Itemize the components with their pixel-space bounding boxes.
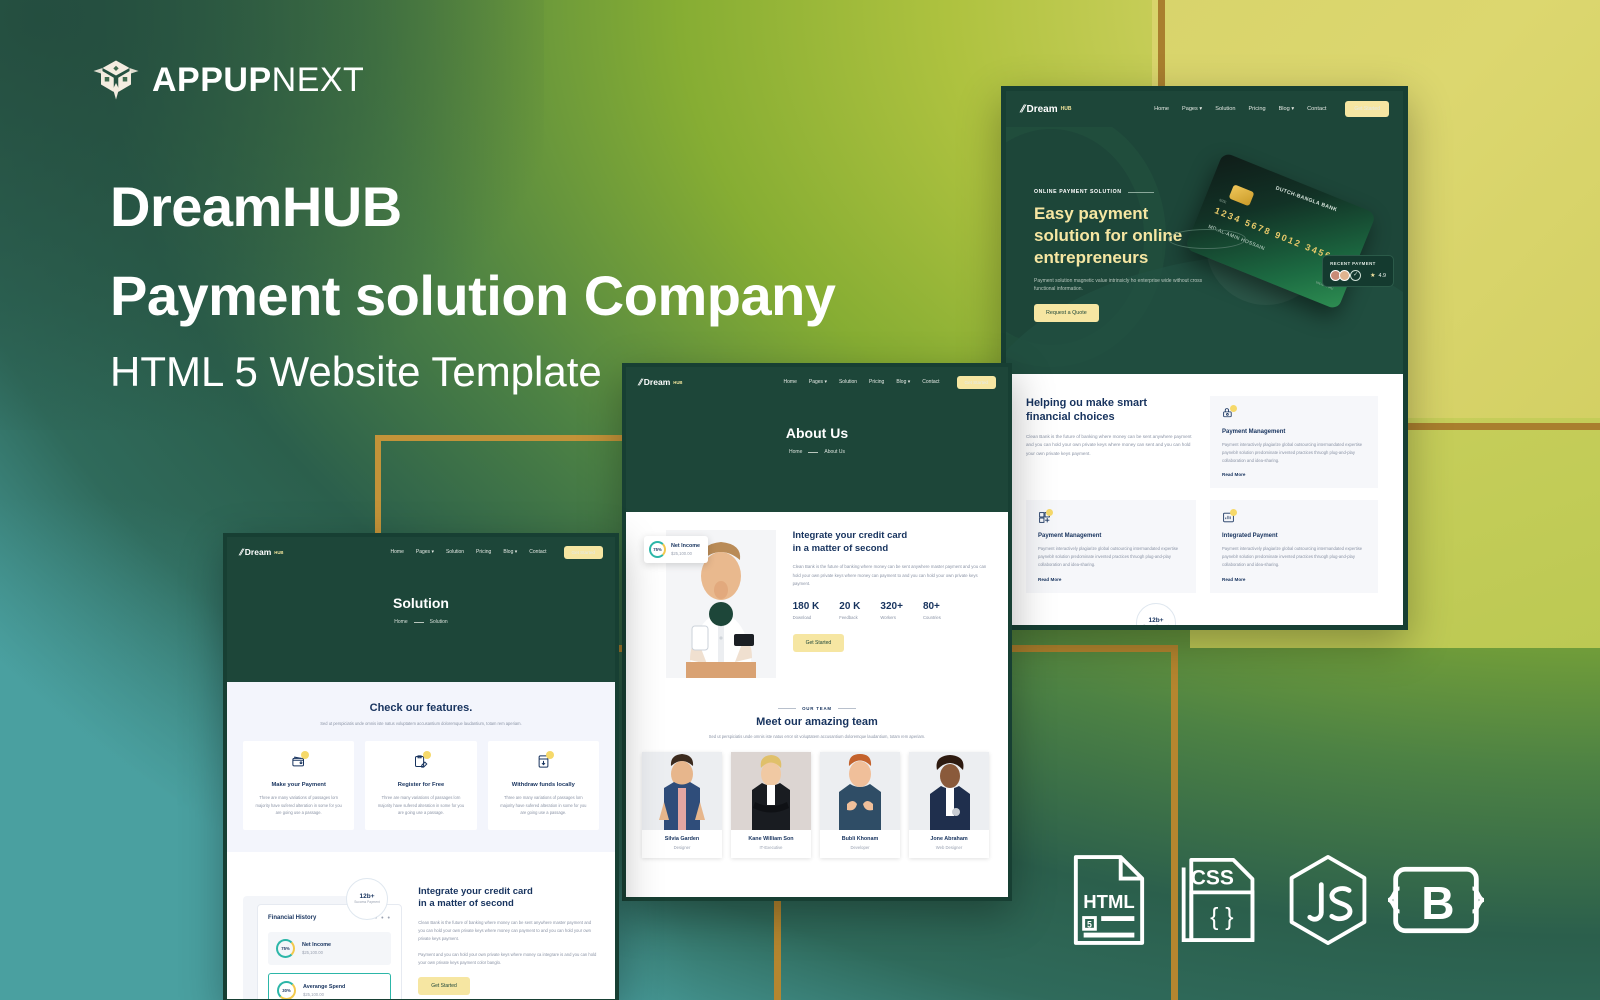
mockB-team-heading: Meet our amazing team (642, 716, 992, 728)
mockB-team-grid: Silvia Garden Designer Kane Wi (642, 752, 992, 858)
mockB-page-title: About Us (626, 397, 1008, 441)
mockA-nav-pricing[interactable]: Pricing (1248, 106, 1265, 112)
mockC-logo[interactable]: ⫽ DreamHUB (239, 547, 283, 558)
mockA-feature-card[interactable]: Payment Management Payment interactively… (1210, 396, 1378, 488)
brand-logo: APPUPNEXT (92, 56, 364, 104)
row-label: Averange Spend (303, 984, 345, 990)
mockA-badge-circle: 12b+ Success Payment (1136, 603, 1176, 630)
team-member-card[interactable]: Jone Abraham Web Designer (909, 752, 989, 858)
mockB-stats-row: 180 K Download 20 K Feedback 320+ Worker… (793, 601, 992, 620)
team-role: Designer (646, 845, 718, 850)
mockA-paragraph: Payment solution magnetic value intrinsi… (1034, 277, 1224, 293)
team-role: Web Designer (913, 845, 985, 850)
mockC-integrate-paragraph-1: Clean Bank is the future of banking wher… (418, 919, 599, 943)
mockB-team-eyebrow: OUR TEAM (802, 706, 832, 711)
brand-name-light: NEXT (272, 61, 365, 99)
progress-ring: 75% (649, 541, 666, 558)
progress-ring: 75% (276, 939, 295, 958)
mockB-logo[interactable]: ⫽ DreamHUB (638, 377, 682, 388)
mockC-feature-text: Three are many variations of passages lo… (253, 794, 344, 817)
mockC-logo-sup: HUB (274, 550, 283, 555)
bootstrap-badge-icon: B (1388, 850, 1466, 950)
team-member-card[interactable]: Kane William Son IT-Executive (731, 752, 811, 858)
row-value: $25,100.00 (303, 992, 345, 997)
chart-card-icon (1222, 511, 1235, 524)
mockC-panel-title: Financial History (268, 915, 316, 921)
mockA-nav-contact[interactable]: Contact (1307, 106, 1326, 112)
mockB-breadcrumb[interactable]: Home About Us (626, 449, 1008, 455)
clipboard-edit-icon (413, 754, 428, 774)
mockB-logo-sup: HUB (673, 380, 682, 385)
mockB-nav-contact[interactable]: Contact (922, 379, 939, 385)
mockA-feature-readmore[interactable]: Read More (1222, 577, 1366, 582)
breadcrumb-home[interactable]: Home (789, 449, 802, 455)
team-name: Kane William Son (735, 836, 807, 842)
mockA-nav-home[interactable]: Home (1154, 106, 1169, 112)
mockC-breadcrumb[interactable]: Home Solution (227, 619, 615, 625)
mockA-logo-text: Dream (1026, 104, 1057, 115)
recent-payment-card: RECENT PAYMENT ✓ ★ 4.9 (1322, 255, 1394, 287)
wallet-icon (291, 754, 306, 774)
mockC-feature-card[interactable]: Withdraw funds locally Three are many va… (488, 741, 599, 830)
brand-name: APPUPNEXT (152, 61, 364, 100)
mockC-panel-row: 30% Averange Spend $25,100.00 (268, 973, 391, 1000)
mockB-logo-text: Dream (644, 377, 670, 387)
mockA-nav-blog[interactable]: Blog ▾ (1279, 106, 1295, 112)
svg-text:{ }: { } (1210, 904, 1233, 931)
css3-badge-icon: CSS { } (1176, 850, 1254, 950)
payment-hand-icon (1222, 407, 1235, 420)
breadcrumb-home[interactable]: Home (394, 619, 407, 625)
mockC-nav-home[interactable]: Home (391, 549, 404, 555)
mockup-payment-landing[interactable]: ⫽ DreamHUB Home Pages ▾ Solution Pricing… (1001, 86, 1408, 630)
recent-payment-rating: 4.9 (1379, 273, 1387, 279)
stat-value: 180 K (793, 601, 820, 612)
mockB-integrate-paragraph: Clean Bank is the future of banking wher… (793, 563, 992, 587)
eyebrow-rule (1128, 192, 1154, 193)
grid-plus-icon (1038, 511, 1051, 524)
team-name: Silvia Garden (646, 836, 718, 842)
mockB-nav-solution[interactable]: Solution (839, 379, 857, 385)
row-value: $25,100.00 (302, 950, 331, 955)
mockC-features-section: Check our features. Sed ut perspiciatis … (227, 682, 615, 852)
mockA-nav-links[interactable]: Home Pages ▾ Solution Pricing Blog ▾ Con… (1154, 101, 1389, 117)
badge-value: 12b+ (1149, 617, 1164, 624)
logo-slash-icon: ⫽ (239, 547, 242, 558)
mockA-features-heading-2: financial choices (1026, 410, 1196, 424)
mockC-integrate-heading-1: Integrate your credit card (418, 886, 599, 899)
mockA-features-paragraph: Clean Bank is the future of banking wher… (1026, 433, 1196, 458)
mockA-hero-section: ONLINE PAYMENT SOLUTION Easy payment sol… (1006, 127, 1403, 374)
mockC-navbar[interactable]: ⫽ DreamHUB Home Pages ▾ Solution Pricing… (227, 537, 615, 567)
mockA-features-heading-1: Helping ou make smart (1026, 396, 1196, 410)
team-role: Developer (824, 845, 896, 850)
row-label: Net Income (302, 942, 331, 948)
mockA-feature-readmore[interactable]: Read More (1222, 472, 1366, 477)
javascript-badge-icon (1282, 850, 1360, 950)
hero-subtitle: Payment solution Company (110, 265, 1010, 328)
mockA-feature-text: Payment interactively plagiarize global … (1038, 545, 1184, 568)
mockA-logo[interactable]: ⫽ DreamHUB (1020, 104, 1071, 115)
stat-label: Download (793, 615, 820, 620)
mockB-get-started-cta[interactable]: Get Started (793, 634, 845, 652)
mockA-nav-solution[interactable]: Solution (1215, 106, 1235, 112)
stat-label: Workers (880, 615, 903, 620)
progress-ring: 30% (277, 981, 296, 1000)
mockA-headline-3: entrepreneurs (1034, 247, 1234, 269)
check-circle-icon: ✓ (1350, 270, 1361, 281)
mockC-nav-pricing[interactable]: Pricing (476, 549, 491, 555)
mockC-feature-title: Make your Payment (253, 782, 344, 788)
avatar (1339, 270, 1350, 281)
mockC-integrate-paragraph-2: Payment and you can hold your own privat… (418, 951, 599, 967)
mockA-logo-sup: HUB (1061, 106, 1072, 112)
mockB-nav-pages[interactable]: Pages ▾ (809, 379, 827, 385)
mockA-eyebrow: ONLINE PAYMENT SOLUTION (1034, 189, 1122, 195)
mockC-page-title: Solution (227, 567, 615, 611)
breadcrumb-separator (808, 452, 818, 453)
mockA-feature-title: Payment Management (1038, 533, 1184, 539)
mockC-nav-pages[interactable]: Pages ▾ (416, 549, 434, 555)
mockB-team-paragraph: Sed ut perspiciatis unde omnis iste natu… (642, 734, 992, 739)
mockC-nav-links[interactable]: Home Pages ▾ Solution Pricing Blog ▾ Con… (391, 546, 603, 559)
team-name: Jone Abraham (913, 836, 985, 842)
mockB-stat-card: 75% Net Income $25,100.00 (644, 536, 708, 563)
mockA-features-section: Helping ou make smart financial choices … (1006, 374, 1403, 630)
svg-text:B: B (1421, 877, 1454, 929)
mockB-get-started-button[interactable]: Get Started (957, 376, 997, 389)
stat-item: 320+ Workers (880, 601, 903, 620)
star-icon: ★ (1370, 272, 1375, 279)
mockC-feature-text: Three are many variations of passages lo… (498, 794, 589, 817)
stat-label: Net Income (671, 543, 700, 549)
mockC-integrate-section: Financial History • • • 75% Net Income $… (227, 852, 615, 995)
mockC-feature-title: Withdraw funds locally (498, 782, 589, 788)
logo-slash-icon: ⫽ (1020, 104, 1023, 115)
badge-caption: Success Payment (1143, 624, 1169, 628)
mockA-feature-card[interactable]: Payment Management Payment interactively… (1026, 500, 1196, 592)
mockA-headline-1: Easy payment (1034, 203, 1234, 225)
mockC-get-started-cta[interactable]: Get Started (418, 977, 470, 995)
stat-value: 20 K (839, 601, 860, 612)
cube-logo-icon (92, 56, 140, 104)
mockC-page-header: Solution Home Solution (227, 567, 615, 682)
eyebrow-rule (838, 708, 856, 709)
mockA-feature-title: Payment Management (1222, 429, 1366, 435)
mockC-features-paragraph: Sed ut perspiciatis unde omnis iste natu… (243, 721, 599, 726)
headline-highlight-ellipse (1168, 229, 1246, 249)
mockC-panel-row: 75% Net Income $25,100.00 (268, 932, 391, 965)
mockC-feature-card[interactable]: Register for Free Three are many variati… (365, 741, 476, 830)
mockC-get-started-button[interactable]: Get Started (564, 546, 604, 559)
mockC-nav-blog[interactable]: Blog ▾ (503, 549, 517, 555)
stat-label: Feedback (839, 615, 860, 620)
breadcrumb-current: Solution (430, 619, 448, 625)
mockA-feature-text: Payment interactively plagiarize global … (1222, 545, 1366, 568)
mockup-solution[interactable]: ⫽ DreamHUB Home Pages ▾ Solution Pricing… (223, 533, 619, 1000)
mockA-feature-card[interactable]: Integrated Payment Payment interactively… (1210, 500, 1378, 592)
mockB-integrate-heading-2: in a matter of second (793, 543, 992, 556)
stat-item: 20 K Feedback (839, 601, 860, 620)
mockA-feature-title: Integrated Payment (1222, 533, 1366, 539)
mockA-navbar[interactable]: ⫽ DreamHUB Home Pages ▾ Solution Pricing… (1006, 91, 1403, 127)
recent-payment-label: RECENT PAYMENT (1330, 261, 1386, 266)
brand-name-bold: APPUP (152, 61, 272, 99)
team-role: IT-Executive (735, 845, 807, 850)
team-name: Bubli Khonam (824, 836, 896, 842)
mockB-nav-pricing[interactable]: Pricing (869, 379, 884, 385)
mockB-nav-links[interactable]: Home Pages ▾ Solution Pricing Blog ▾ Con… (784, 376, 996, 389)
svg-text:HTML: HTML (1083, 891, 1134, 912)
stat-label: Countries (923, 615, 941, 620)
breadcrumb-separator (414, 622, 424, 623)
mockB-page-header: About Us Home About Us (626, 397, 1008, 512)
mockB-nav-blog[interactable]: Blog ▾ (896, 379, 910, 385)
mockB-navbar[interactable]: ⫽ DreamHUB Home Pages ▾ Solution Pricing… (626, 367, 1008, 397)
mockC-logo-text: Dream (245, 547, 271, 557)
atm-icon (536, 754, 551, 774)
stat-item: 80+ Countries (923, 601, 941, 620)
svg-text:5: 5 (1087, 919, 1092, 929)
mockC-nav-contact[interactable]: Contact (529, 549, 546, 555)
mockA-nav-pages[interactable]: Pages ▾ (1182, 106, 1202, 112)
badge-caption: Success Payment (354, 900, 380, 904)
stat-value: 80+ (923, 601, 941, 612)
mockC-integrate-heading-2: in a matter of second (418, 898, 599, 911)
stat-value: $25,100.00 (671, 551, 700, 556)
mockC-feature-card[interactable]: Make your Payment Three are many variati… (243, 741, 354, 830)
stat-value: 320+ (880, 601, 903, 612)
mockC-features-heading: Check our features. (243, 702, 599, 714)
card-bank-name: DUTCH-BANGLA BANK (1275, 185, 1338, 213)
mockA-feature-text: Payment interactively plagiarize global … (1222, 441, 1366, 464)
html5-badge-icon: HTML 5 (1070, 850, 1148, 950)
mockC-badge-circle: 12b+ Success Payment (346, 878, 388, 920)
team-member-card[interactable]: Bubli Khonam Developer (820, 752, 900, 858)
mockA-request-quote-button[interactable]: Request a Quote (1034, 304, 1099, 322)
eyebrow-rule (778, 708, 796, 709)
mockC-feature-title: Register for Free (375, 782, 466, 788)
tech-badges: HTML 5 CSS { } B (1070, 850, 1466, 950)
mockup-about-us[interactable]: ⫽ DreamHUB Home Pages ▾ Solution Pricing… (622, 363, 1012, 901)
logo-slash-icon: ⫽ (638, 377, 641, 388)
team-member-card[interactable]: Silvia Garden Designer (642, 752, 722, 858)
badge-value: 12b+ (360, 893, 375, 900)
breadcrumb-current: About Us (824, 449, 845, 455)
mockB-integrate-heading-1: Integrate your credit card (793, 530, 992, 543)
mockA-get-started-button[interactable]: Get Started (1345, 101, 1389, 117)
mockA-feature-readmore[interactable]: Read More (1038, 577, 1184, 582)
svg-text:CSS: CSS (1191, 867, 1234, 890)
mockB-nav-home[interactable]: Home (784, 379, 797, 385)
mockC-feature-text: Three are many variations of passages lo… (375, 794, 466, 817)
hero-title: DreamHUB (110, 176, 1010, 239)
mockC-nav-solution[interactable]: Solution (446, 549, 464, 555)
stat-item: 180 K Download (793, 601, 820, 620)
